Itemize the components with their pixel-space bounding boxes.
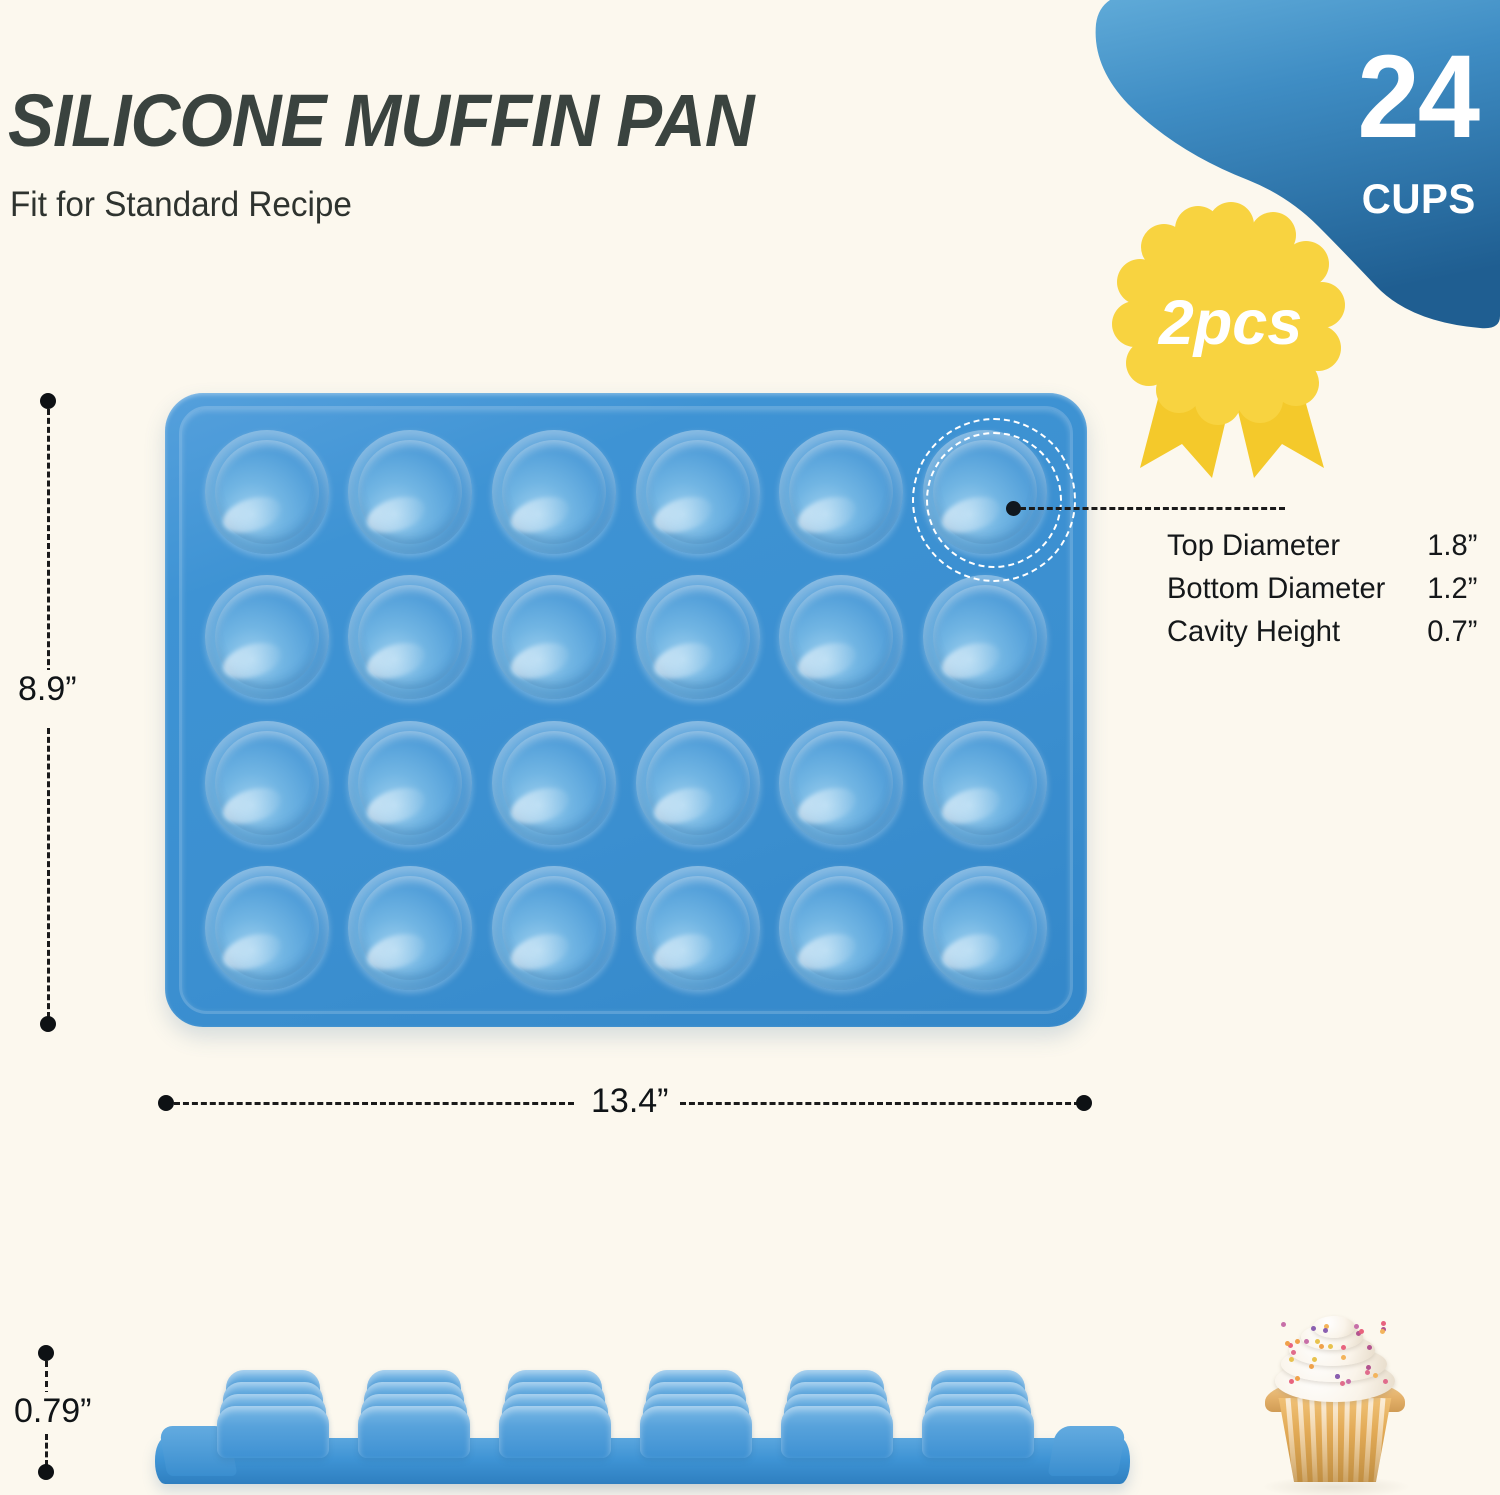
cavity xyxy=(770,419,914,565)
cavity xyxy=(482,419,626,565)
cavity-bump xyxy=(499,1406,611,1458)
frosting-sprinkle xyxy=(1285,1341,1290,1346)
cavity xyxy=(339,565,483,711)
infographic-canvas: 24 CUPS SILICONE MUFFIN PAN Fit for Stan… xyxy=(0,0,1500,1495)
cavity-dish xyxy=(348,721,472,845)
callout-anchor-dot xyxy=(1006,501,1021,516)
frosting-sprinkle xyxy=(1381,1321,1386,1326)
cavity-dish xyxy=(636,430,760,554)
page-title: SILICONE MUFFIN PAN xyxy=(8,78,754,163)
cups-count: 24 xyxy=(1357,38,1478,156)
width-dim-dot-right xyxy=(1076,1095,1092,1111)
frosting-sprinkle xyxy=(1311,1326,1316,1331)
cupcake-flute xyxy=(1285,1398,1297,1482)
cavity xyxy=(626,856,770,1002)
spec-value: 1.2” xyxy=(1427,568,1477,611)
cavity-dish xyxy=(205,575,329,699)
cavity xyxy=(626,565,770,711)
cupcake-wrapper-flutes xyxy=(1271,1398,1399,1482)
cavity xyxy=(913,565,1057,711)
cavity-dish xyxy=(205,430,329,554)
spec-row: Bottom Diameter 1.2” xyxy=(1167,568,1477,611)
pieces-count-label: 2pcs xyxy=(1108,292,1353,355)
cavity-dish xyxy=(348,430,472,554)
cavity-dish xyxy=(923,721,1047,845)
spec-label: Cavity Height xyxy=(1167,611,1340,654)
cavity-grid xyxy=(195,419,1057,1001)
spec-list: Top Diameter 1.8” Bottom Diameter 1.2” C… xyxy=(1167,525,1487,654)
cavity-bump xyxy=(781,1406,893,1458)
width-dim-dot-left xyxy=(158,1095,174,1111)
cavity xyxy=(339,856,483,1002)
cavity xyxy=(339,419,483,565)
cavity-dish xyxy=(923,575,1047,699)
spec-label: Bottom Diameter xyxy=(1167,568,1385,611)
cavity-dish xyxy=(923,430,1047,554)
width-dim-line-right xyxy=(680,1102,1080,1105)
spec-value: 1.8” xyxy=(1427,525,1477,568)
frosting-sprinkle xyxy=(1304,1339,1309,1344)
frosting-sprinkle xyxy=(1341,1355,1346,1360)
cavity-dish xyxy=(779,430,903,554)
callout-leader-line xyxy=(1020,507,1285,510)
frosting-swirl-layer xyxy=(1313,1316,1355,1338)
cupcake-wrapper xyxy=(1271,1398,1399,1482)
spec-label: Top Diameter xyxy=(1167,525,1340,568)
cavity xyxy=(195,565,339,711)
frosting-sprinkle xyxy=(1367,1345,1372,1350)
cavity-bumps xyxy=(217,1348,1067,1458)
spec-value: 0.7” xyxy=(1427,611,1477,654)
cupcake-flute xyxy=(1309,1398,1318,1482)
frosting-sprinkle xyxy=(1346,1379,1351,1384)
cavity-dish xyxy=(348,866,472,990)
frosting-sprinkle xyxy=(1380,1329,1385,1334)
cavity-dish xyxy=(923,866,1047,990)
cavity xyxy=(195,419,339,565)
cavity xyxy=(339,710,483,856)
height-dim-line-lower xyxy=(47,728,50,1018)
frosting-sprinkle xyxy=(1359,1329,1364,1334)
cavity-dish xyxy=(779,575,903,699)
cupcake-flute xyxy=(1373,1398,1385,1482)
frosting-sprinkle xyxy=(1281,1322,1286,1327)
cavity xyxy=(482,856,626,1002)
cupcake-flute xyxy=(1353,1398,1362,1482)
cavity-bump xyxy=(922,1406,1034,1458)
width-dim-label: 13.4” xyxy=(585,1082,675,1121)
frosting-sprinkle xyxy=(1354,1324,1359,1329)
cavity xyxy=(626,419,770,565)
thickness-dim-dot-top xyxy=(38,1345,54,1361)
cavity xyxy=(770,856,914,1002)
cupcake-flute xyxy=(1343,1398,1350,1482)
cavity-dish xyxy=(636,721,760,845)
cavity-dish xyxy=(636,575,760,699)
cavity xyxy=(913,710,1057,856)
cavity xyxy=(626,710,770,856)
cups-unit-label: CUPS xyxy=(1362,178,1476,220)
cupcake-flute xyxy=(1333,1398,1338,1482)
cavity-dish xyxy=(205,721,329,845)
height-dim-label: 8.9” xyxy=(12,670,83,709)
cavity xyxy=(913,856,1057,1002)
frosting-sprinkle xyxy=(1315,1339,1320,1344)
cavity-dish xyxy=(492,575,616,699)
height-dim-dot-top xyxy=(40,393,56,409)
cavity-bump xyxy=(640,1406,752,1458)
cavity-dish xyxy=(636,866,760,990)
cavity-bump xyxy=(358,1406,470,1458)
cavity xyxy=(195,856,339,1002)
pieces-badge: 2pcs xyxy=(1108,200,1368,485)
cavity-dish xyxy=(205,866,329,990)
cavity xyxy=(770,710,914,856)
cupcake-flute xyxy=(1321,1398,1328,1482)
thickness-dim-line-lower xyxy=(45,1434,48,1466)
frosting-sprinkle xyxy=(1323,1328,1328,1333)
cavity xyxy=(482,710,626,856)
cavity-highlighted xyxy=(913,419,1057,565)
cavity xyxy=(195,710,339,856)
cavity xyxy=(770,565,914,711)
spec-row: Top Diameter 1.8” xyxy=(1167,525,1477,568)
cavity-dish xyxy=(492,866,616,990)
cupcake-image xyxy=(1243,1290,1433,1490)
cavity-bump xyxy=(217,1406,329,1458)
frosting-sprinkle xyxy=(1289,1379,1294,1384)
cupcake-frosting xyxy=(1271,1316,1399,1394)
cupcake-flute xyxy=(1297,1398,1307,1482)
spec-row: Cavity Height 0.7” xyxy=(1167,611,1477,654)
cavity-dish xyxy=(492,721,616,845)
frosting-sprinkle xyxy=(1289,1357,1294,1362)
cavity-dish xyxy=(779,866,903,990)
thickness-dim-dot-bottom xyxy=(38,1464,54,1480)
cavity-dish xyxy=(492,430,616,554)
cavity-dish xyxy=(779,721,903,845)
cupcake-flute xyxy=(1363,1398,1373,1482)
page-subtitle: Fit for Standard Recipe xyxy=(10,185,352,225)
cavity xyxy=(482,565,626,711)
muffin-pan-side-view xyxy=(155,1338,1130,1488)
height-dim-line-upper xyxy=(47,409,50,674)
width-dim-line-left xyxy=(174,1102,574,1105)
muffin-pan-top-view xyxy=(165,393,1087,1027)
thickness-dim-label: 0.79” xyxy=(8,1392,98,1431)
cavity-dish xyxy=(348,575,472,699)
height-dim-dot-bottom xyxy=(40,1016,56,1032)
